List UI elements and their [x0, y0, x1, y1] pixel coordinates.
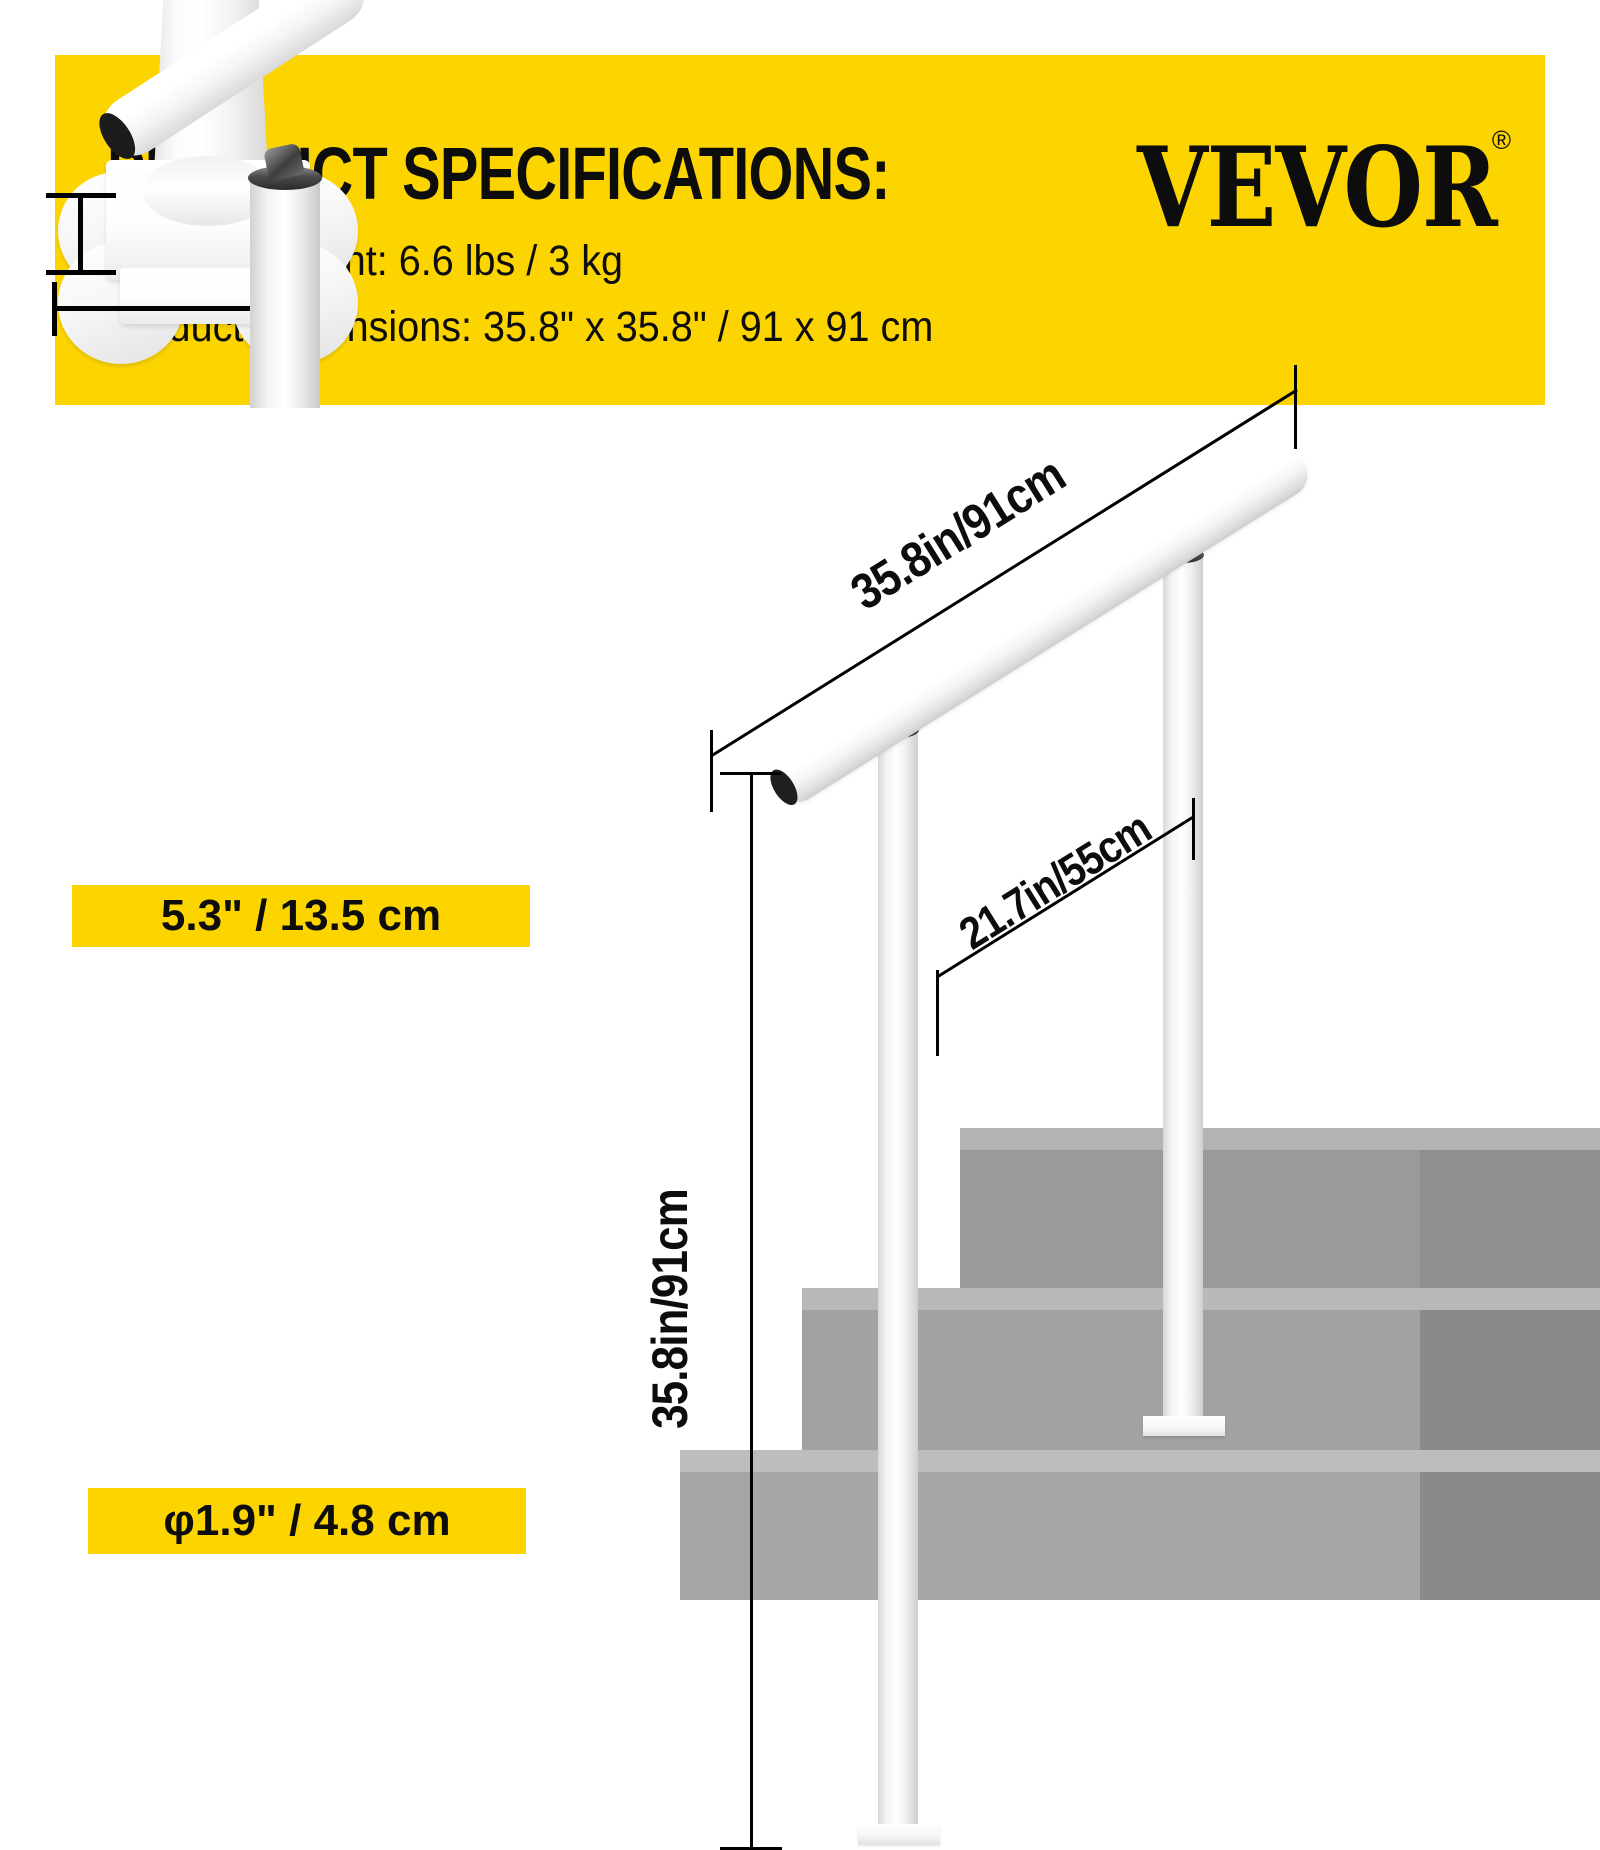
vevor-logo: VEVOR: [1137, 133, 1497, 243]
callout-base-flange-label: 5.3" / 13.5 cm: [72, 885, 530, 947]
stair-shadow-middle: [1420, 1310, 1600, 1462]
handrail-post-left: [878, 730, 918, 1840]
flange-dim-tick-left: [52, 282, 57, 336]
callout-handrail-diameter: [0, 408, 408, 816]
dim-handrail-length-line: [711, 389, 1298, 757]
post-base-flange-left: [858, 1824, 940, 1844]
registered-trademark-icon: ®: [1492, 125, 1511, 156]
diameter-dim-tick-top: [46, 193, 116, 198]
diameter-dim-line: [78, 196, 83, 274]
diameter-dim-tick-bot: [46, 270, 116, 275]
dim-handrail-length-tick-end: [1294, 365, 1297, 449]
dim-overall-height-tick-top: [720, 772, 782, 775]
callout-handrail-diameter-label: φ1.9" / 4.8 cm: [88, 1488, 526, 1554]
dim-handrail-length-label: 35.8in/91cm: [841, 445, 1075, 621]
stair-shadow-top: [1420, 1150, 1600, 1298]
post-base-flange-right: [1143, 1416, 1225, 1436]
stair-tread-top: [960, 1128, 1600, 1150]
dim-post-spacing-tick-start: [936, 970, 939, 1056]
dim-overall-height-line: [750, 772, 753, 1850]
dim-post-spacing-label: 21.7in/55cm: [950, 802, 1160, 960]
dim-handrail-length-tick-start: [710, 730, 713, 812]
product-illustration: 35.8in/91cm 21.7in/55cm 35.8in/91cm: [620, 400, 1600, 1600]
dim-post-spacing-tick-end: [1192, 798, 1195, 860]
stair-shadow-bottom: [1420, 1472, 1600, 1600]
handrail-post-right: [1163, 555, 1203, 1433]
dim-overall-height-label: 35.8in/91cm: [641, 1124, 699, 1494]
detail-post: [250, 178, 320, 408]
stair-tread-bottom: [680, 1450, 1600, 1472]
